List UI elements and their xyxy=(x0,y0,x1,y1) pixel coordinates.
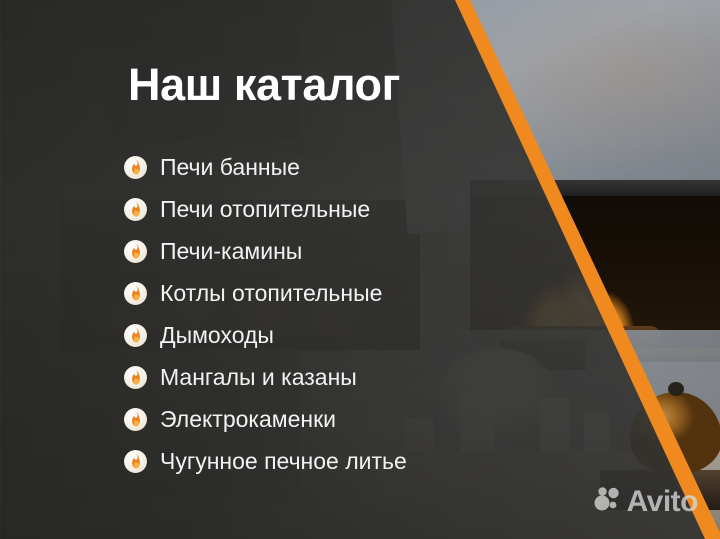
catalog-item-label: Дымоходы xyxy=(160,322,274,348)
avito-wordmark: Avito xyxy=(627,487,698,517)
catalog-banner: Наш каталог Печи банныеПечи отопительные… xyxy=(0,0,720,539)
flame-icon xyxy=(124,282,147,305)
avito-watermark: Avito xyxy=(594,486,698,517)
flame-icon xyxy=(124,450,147,473)
flame-icon xyxy=(124,366,147,389)
catalog-item[interactable]: Дымоходы xyxy=(124,314,407,356)
catalog-item[interactable]: Печи-камины xyxy=(124,230,407,272)
catalog-item[interactable]: Печи банные xyxy=(124,146,407,188)
catalog-item-label: Печи банные xyxy=(160,154,300,180)
flame-icon xyxy=(124,408,147,431)
catalog-item-label: Котлы отопительные xyxy=(160,280,382,306)
flame-icon xyxy=(124,240,147,263)
catalog-item-label: Электрокаменки xyxy=(160,406,336,432)
catalog-item[interactable]: Чугунное печное литье xyxy=(124,440,407,482)
catalog-item[interactable]: Котлы отопительные xyxy=(124,272,407,314)
banner-content: Наш каталог Печи банныеПечи отопительные… xyxy=(0,0,720,539)
page-title: Наш каталог xyxy=(128,59,400,111)
catalog-item-label: Мангалы и казаны xyxy=(160,364,357,390)
catalog-item[interactable]: Мангалы и казаны xyxy=(124,356,407,398)
flame-icon xyxy=(124,198,147,221)
catalog-item-label: Печи отопительные xyxy=(160,196,370,222)
flame-icon xyxy=(124,324,147,347)
catalog-list: Печи банныеПечи отопительныеПечи-каминыК… xyxy=(124,146,407,482)
catalog-item[interactable]: Печи отопительные xyxy=(124,188,407,230)
flame-icon xyxy=(124,156,147,179)
avito-dots-icon xyxy=(594,486,620,517)
catalog-item[interactable]: Электрокаменки xyxy=(124,398,407,440)
catalog-item-label: Печи-камины xyxy=(160,238,302,264)
catalog-item-label: Чугунное печное литье xyxy=(160,448,407,474)
